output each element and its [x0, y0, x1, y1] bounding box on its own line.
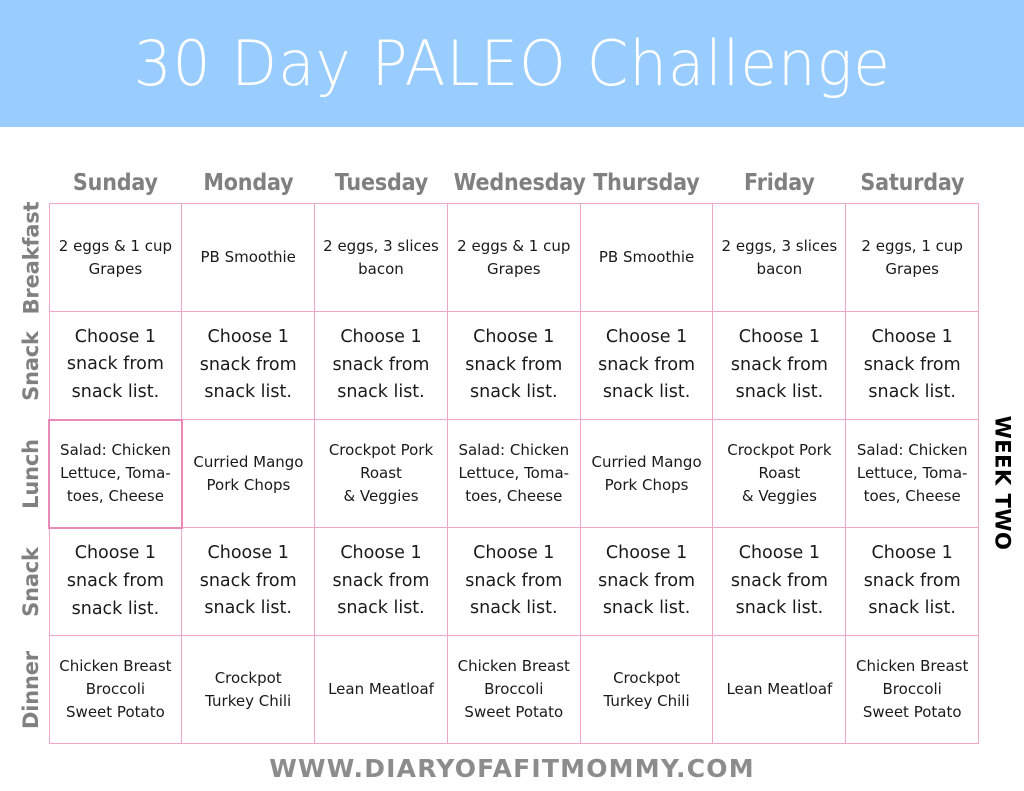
meal-cell-line: Roast: [322, 462, 440, 485]
meal-cell-line: Lean Meatloaf: [322, 678, 440, 701]
meal-plan-table-wrap: SundayMondayTuesdayWednesdayThursdayFrid…: [48, 163, 978, 744]
meal-cell-line: Lettuce, Toma-: [853, 462, 971, 485]
meal-cell-line: Choose 1: [853, 540, 971, 568]
meal-cell-line: snack list.: [57, 596, 175, 624]
meal-cell[interactable]: Chicken BreastBroccoliSweet Potato: [846, 636, 979, 744]
meal-cell[interactable]: Curried MangoPork Chops: [580, 420, 713, 528]
meal-cell-line: snack from: [322, 352, 440, 380]
meal-cell-line: snack from: [189, 568, 307, 596]
meal-cell-line: Choose 1: [455, 540, 573, 568]
meal-label-text: Snack: [19, 331, 43, 401]
meal-cell-line: snack list.: [720, 379, 838, 407]
meal-label-snack-3: Snack: [14, 528, 48, 636]
meal-cell-line: Salad: Chicken: [455, 439, 573, 462]
meal-cell[interactable]: 2 eggs & 1 cupGrapes: [49, 204, 182, 312]
meal-cell[interactable]: 2 eggs, 3 slicesbacon: [713, 204, 846, 312]
meal-cell-line: snack from: [455, 352, 573, 380]
meal-cell-line: Choose 1: [57, 324, 175, 352]
meal-cell[interactable]: Crockpot PorkRoast& Veggies: [315, 420, 448, 528]
meal-cell-line: Salad: Chicken: [853, 439, 971, 462]
meal-cell[interactable]: Choose 1snack fromsnack list.: [315, 312, 448, 420]
meal-cell-line: Lettuce, Toma-: [455, 462, 573, 485]
meal-cell[interactable]: Chicken BreastBroccoliSweet Potato: [447, 636, 580, 744]
meal-cell-line: Choose 1: [322, 540, 440, 568]
meal-cell-line: Salad: Chicken: [57, 439, 174, 462]
meal-cell-line: snack from: [853, 352, 971, 380]
meal-cell-line: Pork Chops: [190, 474, 307, 497]
meal-cell-line: Choose 1: [853, 324, 971, 352]
meal-cell-line: Lean Meatloaf: [720, 678, 838, 701]
meal-cell-line: snack list.: [189, 595, 307, 623]
meal-cell-line: snack list.: [588, 595, 706, 623]
meal-cell[interactable]: 2 eggs, 3 slicesbacon: [315, 204, 448, 312]
meal-cell-line: bacon: [720, 258, 838, 281]
day-header-tuesday: Tuesday: [321, 163, 441, 204]
meal-cell-line: Grapes: [455, 258, 573, 281]
meal-cell[interactable]: Choose 1snack fromsnack list.: [846, 528, 979, 636]
meal-cell[interactable]: Crockpot PorkRoast& Veggies: [713, 420, 846, 528]
meal-cell-line: & Veggies: [322, 485, 440, 508]
meal-cell-line: snack from: [720, 568, 838, 596]
meal-cell-line: Broccoli: [853, 678, 971, 701]
meal-cell-line: Sweet Potato: [853, 701, 971, 724]
meal-cell-line: 2 eggs, 1 cup: [853, 235, 971, 258]
meal-cell[interactable]: Choose 1snack fromsnack list.: [447, 528, 580, 636]
table-body: 2 eggs & 1 cupGrapesPB Smoothie2 eggs, 3…: [49, 204, 979, 744]
meal-cell[interactable]: Lean Meatloaf: [315, 636, 448, 744]
meal-cell[interactable]: 2 eggs & 1 cupGrapes: [447, 204, 580, 312]
week-label: WEEK TWO: [986, 398, 1018, 568]
meal-cell-line: Grapes: [853, 258, 971, 281]
meal-cell[interactable]: Lean Meatloaf: [713, 636, 846, 744]
meal-label-text: Dinner: [19, 651, 43, 729]
meal-cell-line: snack list.: [189, 379, 307, 407]
meal-cell-line: Chicken Breast: [57, 655, 175, 678]
meal-cell-line: Choose 1: [720, 540, 838, 568]
day-header-row: SundayMondayTuesdayWednesdayThursdayFrid…: [49, 163, 979, 204]
meal-row-labels: BreakfastSnackLunchSnackDinner: [14, 196, 48, 741]
meal-cell[interactable]: Choose 1snack fromsnack list.: [713, 312, 846, 420]
meal-cell-line: toes, Cheese: [57, 485, 174, 508]
meal-label-text: Snack: [19, 547, 43, 617]
meal-cell-line: PB Smoothie: [189, 246, 307, 269]
meal-cell[interactable]: Salad: ChickenLettuce, Toma-toes, Cheese: [447, 420, 580, 528]
meal-cell[interactable]: Choose 1snack fromsnack list.: [49, 312, 182, 420]
title-banner: 30 Day PALEO Challenge: [0, 0, 1024, 127]
meal-cell[interactable]: Choose 1snack fromsnack list.: [580, 528, 713, 636]
meal-cell-line: Choose 1: [57, 540, 175, 568]
meal-cell[interactable]: Choose 1snack fromsnack list.: [182, 312, 315, 420]
meal-plan-table: SundayMondayTuesdayWednesdayThursdayFrid…: [48, 163, 979, 744]
meal-cell-line: snack list.: [322, 379, 440, 407]
meal-cell-line: Chicken Breast: [455, 655, 573, 678]
day-header-thursday: Thursday: [587, 163, 707, 204]
meal-cell-line: snack from: [455, 568, 573, 596]
meal-cell-line: snack from: [720, 352, 838, 380]
meal-cell-line: Crockpot Pork: [322, 439, 440, 462]
meal-cell-line: PB Smoothie: [588, 246, 706, 269]
meal-cell-line: snack from: [853, 568, 971, 596]
meal-cell-line: snack list.: [853, 595, 971, 623]
day-header-sunday: Sunday: [56, 163, 176, 204]
meal-cell-line: snack from: [588, 352, 706, 380]
meal-cell[interactable]: Choose 1snack fromsnack list.: [49, 528, 182, 636]
meal-cell-line: snack list.: [455, 379, 573, 407]
meal-cell-line: snack list.: [588, 379, 706, 407]
footer-site-url: WWW.DIARYOFAFITMOMMY.COM: [0, 754, 1024, 783]
meal-cell-line: Crockpot: [189, 667, 307, 690]
meal-cell-line: Pork Chops: [588, 474, 706, 497]
meal-cell[interactable]: PB Smoothie: [580, 204, 713, 312]
day-header-monday: Monday: [188, 163, 308, 204]
meal-cell[interactable]: Choose 1snack fromsnack list.: [447, 312, 580, 420]
meal-cell[interactable]: Choose 1snack fromsnack list.: [580, 312, 713, 420]
meal-cell-line: snack from: [588, 568, 706, 596]
meal-cell-line: Choose 1: [455, 324, 573, 352]
meal-row-snack: Choose 1snack fromsnack list.Choose 1sna…: [49, 312, 979, 420]
meal-cell-line: Choose 1: [588, 324, 706, 352]
meal-cell-line: Roast: [720, 462, 838, 485]
meal-row-dinner: Chicken BreastBroccoliSweet PotatoCrockp…: [49, 636, 979, 744]
meal-cell[interactable]: Salad: ChickenLettuce, Toma-toes, Cheese: [49, 420, 182, 528]
meal-cell[interactable]: Choose 1snack fromsnack list.: [182, 528, 315, 636]
meal-cell-line: Turkey Chili: [588, 690, 706, 713]
meal-cell[interactable]: 2 eggs, 1 cupGrapes: [846, 204, 979, 312]
meal-cell-line: snack list.: [57, 379, 175, 407]
meal-cell-line: Broccoli: [57, 678, 175, 701]
meal-cell-line: Sweet Potato: [57, 701, 175, 724]
meal-cell-line: snack list.: [455, 595, 573, 623]
meal-cell-line: Choose 1: [588, 540, 706, 568]
meal-row-lunch: Salad: ChickenLettuce, Toma-toes, Cheese…: [49, 420, 979, 528]
meal-cell-line: 2 eggs, 3 slices: [322, 235, 440, 258]
meal-cell-line: Choose 1: [720, 324, 838, 352]
meal-cell-line: snack list.: [853, 379, 971, 407]
meal-cell-line: Curried Mango: [190, 451, 307, 474]
meal-label-text: Breakfast: [19, 201, 43, 314]
meal-cell[interactable]: PB Smoothie: [182, 204, 315, 312]
meal-cell-line: Chicken Breast: [853, 655, 971, 678]
meal-cell-line: snack list.: [720, 595, 838, 623]
meal-cell[interactable]: Salad: ChickenLettuce, Toma-toes, Cheese: [846, 420, 979, 528]
meal-cell-line: & Veggies: [720, 485, 838, 508]
meal-cell-line: 2 eggs & 1 cup: [57, 235, 175, 258]
meal-cell-line: snack from: [322, 568, 440, 596]
meal-cell-line: snack from: [57, 351, 175, 379]
meal-plan-page: 30 Day PALEO Challenge BreakfastSnackLun…: [0, 0, 1024, 791]
meal-cell-line: Crockpot: [588, 667, 706, 690]
meal-cell-line: snack from: [189, 352, 307, 380]
meal-cell-line: Broccoli: [455, 678, 573, 701]
table-head: SundayMondayTuesdayWednesdayThursdayFrid…: [49, 163, 979, 204]
meal-label-text: Lunch: [19, 439, 43, 509]
meal-cell-line: snack from: [57, 568, 175, 596]
meal-row-snack: Choose 1snack fromsnack list.Choose 1sna…: [49, 528, 979, 636]
meal-cell[interactable]: CrockpotTurkey Chili: [182, 636, 315, 744]
meal-cell[interactable]: Choose 1snack fromsnack list.: [846, 312, 979, 420]
meal-cell-line: Grapes: [57, 258, 175, 281]
meal-label-dinner-4: Dinner: [14, 636, 48, 744]
meal-cell-line: Crockpot Pork: [720, 439, 838, 462]
meal-cell[interactable]: Choose 1snack fromsnack list.: [713, 528, 846, 636]
meal-cell-line: Choose 1: [322, 324, 440, 352]
meal-label-snack-1: Snack: [14, 312, 48, 420]
meal-row-breakfast: 2 eggs & 1 cupGrapesPB Smoothie2 eggs, 3…: [49, 204, 979, 312]
meal-cell-line: Choose 1: [189, 540, 307, 568]
meal-cell-line: 2 eggs, 3 slices: [720, 235, 838, 258]
meal-cell[interactable]: Curried MangoPork Chops: [182, 420, 315, 528]
meal-cell-line: Turkey Chili: [189, 690, 307, 713]
meal-cell[interactable]: Choose 1snack fromsnack list.: [315, 528, 448, 636]
meal-label-breakfast-0: Breakfast: [14, 204, 48, 312]
meal-cell-line: toes, Cheese: [853, 485, 971, 508]
week-label-text: WEEK TWO: [990, 416, 1014, 551]
meal-cell[interactable]: Chicken BreastBroccoliSweet Potato: [49, 636, 182, 744]
meal-cell-line: 2 eggs & 1 cup: [455, 235, 573, 258]
meal-cell[interactable]: CrockpotTurkey Chili: [580, 636, 713, 744]
page-title: 30 Day PALEO Challenge: [133, 27, 890, 100]
meal-cell-line: bacon: [322, 258, 440, 281]
day-header-friday: Friday: [720, 163, 840, 204]
meal-cell-line: snack list.: [322, 595, 440, 623]
meal-label-lunch-2: Lunch: [14, 420, 48, 528]
meal-cell-line: toes, Cheese: [455, 485, 573, 508]
meal-cell-line: Lettuce, Toma-: [57, 462, 174, 485]
meal-cell-line: Choose 1: [189, 324, 307, 352]
day-header-wednesday: Wednesday: [454, 163, 574, 204]
meal-cell-line: Curried Mango: [588, 451, 706, 474]
meal-cell-line: Sweet Potato: [455, 701, 573, 724]
day-header-saturday: Saturday: [852, 163, 972, 204]
